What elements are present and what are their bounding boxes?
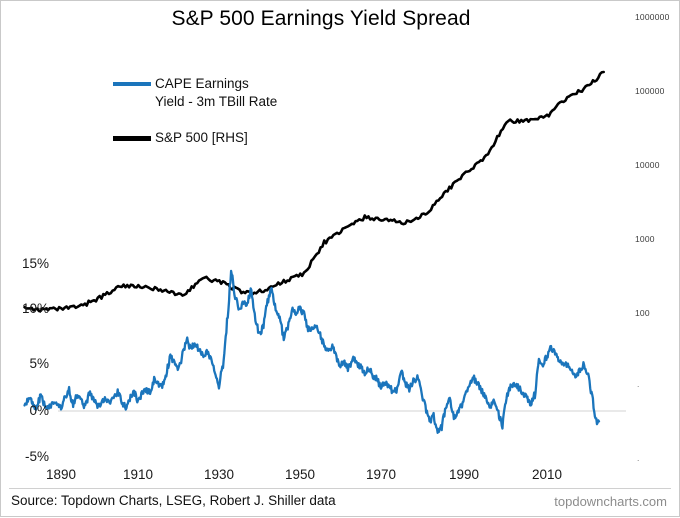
legend-item-cape-spread[interactable]: CAPE Earnings Yield - 3m TBill Rate — [113, 75, 363, 111]
legend-label-cape-spread-line1: CAPE Earnings — [155, 75, 277, 93]
watermark-label: topdowncharts.com — [554, 494, 667, 509]
legend-spacer — [113, 113, 363, 129]
y-left-tick-0: 0% — [5, 403, 49, 418]
legend-label-cape-spread-line2: Yield - 3m TBill Rate — [155, 93, 277, 111]
y-left-tick-10: 10% — [5, 301, 49, 316]
legend-swatch-blue — [113, 82, 151, 86]
legend-item-sp500[interactable]: S&P 500 [RHS] — [113, 129, 363, 147]
y-right-tick-100: 100 — [635, 308, 650, 318]
x-tick-1950: 1950 — [270, 467, 330, 482]
y-right-tick-1000000: 1000000 — [635, 12, 670, 22]
x-tick-1910: 1910 — [108, 467, 168, 482]
y-right-tick-100000: 100000 — [635, 86, 665, 96]
footer-divider — [9, 488, 671, 489]
y-left-tick-minus5: -5% — [5, 449, 49, 464]
y-right-tick-10: . — [637, 379, 639, 389]
legend-swatch-black — [113, 136, 151, 141]
x-tick-1890: 1890 — [31, 467, 91, 482]
y-left-tick-15: 15% — [5, 256, 49, 271]
earnings-yield-spread-path — [25, 271, 599, 433]
legend-label-cape-spread: CAPE Earnings Yield - 3m TBill Rate — [155, 75, 277, 111]
y-right-tick-10000: 10000 — [635, 160, 660, 170]
x-tick-2010: 2010 — [517, 467, 577, 482]
y-left-tick-5: 5% — [5, 356, 49, 371]
legend-label-sp500: S&P 500 [RHS] — [155, 129, 248, 147]
x-tick-1930: 1930 — [189, 467, 249, 482]
x-tick-1990: 1990 — [434, 467, 494, 482]
source-note: Source: Topdown Charts, LSEG, Robert J. … — [11, 493, 336, 508]
x-tick-1970: 1970 — [351, 467, 411, 482]
series-earnings-yield-spread-line — [25, 271, 599, 433]
y-right-tick-1000: 1000 — [635, 234, 655, 244]
y-right-tick-1: . — [637, 453, 639, 463]
chart-legend: CAPE Earnings Yield - 3m TBill Rate S&P … — [113, 75, 363, 149]
chart-container: S&P 500 Earnings Yield Spread 15% 10% 5%… — [0, 0, 680, 517]
